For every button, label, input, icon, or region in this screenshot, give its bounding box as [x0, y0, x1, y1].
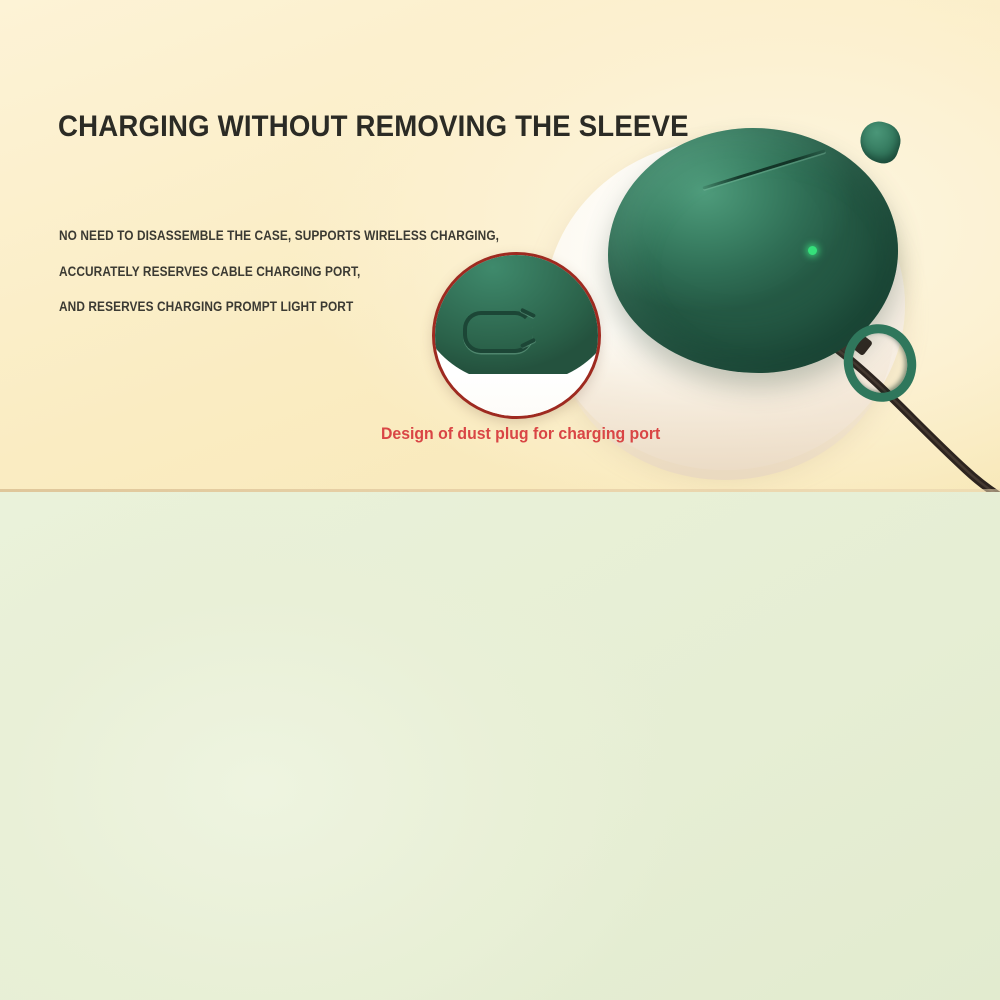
- body-text-line-3: AND RESERVES CHARGING PROMPT LIGHT PORT: [59, 299, 353, 314]
- dust-plug-caption: Design of dust plug for charging port: [381, 424, 660, 444]
- body-text-line-2: ACCURATELY RESERVES CABLE CHARGING PORT,: [59, 264, 360, 279]
- green-earbud-case: [608, 128, 898, 373]
- product-marketing-image: CHARGING WITHOUT REMOVING THE SLEEVE NO …: [0, 0, 1000, 1000]
- panel-support-wireless-charging: SUPPORT WIRELESS CHARGING PUT IT DOWN AN…: [0, 492, 1000, 1000]
- magnifier-callout-dust-plug: [432, 252, 601, 419]
- carabiner-hook-icon: [855, 117, 905, 167]
- panel-charging-without-removing-sleeve: CHARGING WITHOUT REMOVING THE SLEEVE NO …: [0, 0, 1000, 492]
- charging-led-indicator: [808, 246, 817, 255]
- magnified-background: [435, 374, 598, 416]
- body-text-line-1: NO NEED TO DISASSEMBLE THE CASE, SUPPORT…: [59, 228, 499, 243]
- page-title-top: CHARGING WITHOUT REMOVING THE SLEEVE: [58, 110, 689, 144]
